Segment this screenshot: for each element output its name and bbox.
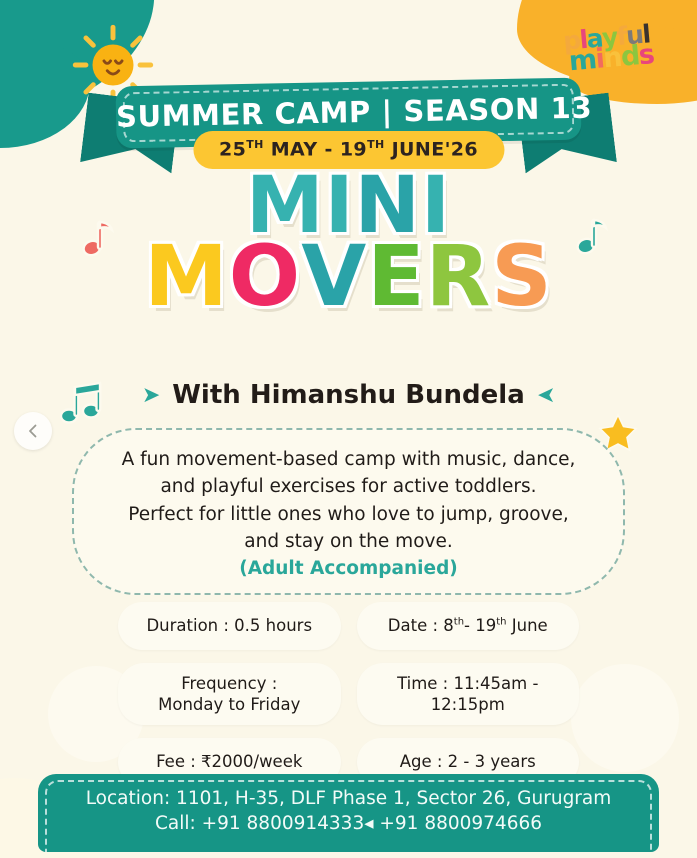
footer-location: Location: 1101, H-35, DLF Phase 1, Secto… (52, 786, 645, 811)
chevron-left-icon (25, 423, 41, 439)
banner-title: SUMMER CAMP | SEASON 13 (116, 91, 582, 134)
date-badge-sup-1: TH (246, 138, 264, 151)
cream-circle-bottom-right (571, 664, 679, 772)
arrow-right-icon: ➤ (537, 383, 555, 408)
date-badge-sup-2: TH (367, 138, 385, 151)
detail-cell-time: Time : 11:45am - 12:15pm (357, 663, 580, 725)
detail-cell-date: Date : 8th- 19th June (357, 602, 580, 650)
details-grid: Duration : 0.5 hoursDate : 8th- 19th Jun… (118, 602, 579, 786)
arrow-left-icon: ➤ (142, 383, 160, 408)
title-letter: R (426, 237, 492, 315)
instructor-row: ➤ With Himanshu Bundela ➤ (0, 380, 697, 410)
detail-text-time: Time : 11:45am - 12:15pm (367, 673, 570, 716)
date-badge-mid: MAY - 19 (264, 138, 367, 160)
footer-call[interactable]: Call: +91 8800914333◂ +91 8800974666 (52, 811, 645, 836)
detail-text-duration: Duration : 0.5 hours (146, 615, 312, 636)
description-line: A fun movement-based camp with music, da… (100, 446, 597, 473)
detail-text-age: Age : 2 - 3 years (400, 751, 536, 772)
detail-text-frequency: Frequency :Monday to Friday (158, 673, 300, 716)
title-line-movers: MOVERS (0, 237, 697, 315)
detail-text-date: Date : 8th- 19th June (388, 615, 548, 636)
poster-canvas: playful minds (0, 0, 697, 858)
title-letter: M (144, 237, 229, 315)
description-line: Perfect for little ones who love to jump… (100, 501, 597, 528)
detail-cell-duration: Duration : 0.5 hours (118, 602, 341, 650)
instructor-name: With Himanshu Bundela (172, 380, 525, 410)
date-badge-start: 25 (219, 138, 246, 160)
detail-cell-frequency: Frequency :Monday to Friday (118, 663, 341, 725)
title-letter: V (301, 237, 367, 315)
adult-accompanied-note: (Adult Accompanied) (100, 558, 597, 579)
date-badge-end: JUNE'26 (385, 138, 478, 160)
title-letter: S (491, 237, 553, 315)
detail-text-fee: Fee : ₹2000/week (156, 751, 302, 772)
logo-line-2: minds (569, 44, 655, 72)
title-letter: E (367, 237, 425, 315)
summer-camp-banner: SUMMER CAMP | SEASON 13 25TH MAY - 19TH … (0, 72, 697, 172)
carousel-prev-button[interactable] (14, 412, 52, 450)
description-line: and stay on the move. (100, 528, 597, 555)
camp-title: MINI MOVERS (0, 170, 697, 315)
contact-footer: Location: 1101, H-35, DLF Phase 1, Secto… (38, 774, 659, 852)
title-letter: O (229, 237, 301, 315)
description-card: A fun movement-based camp with music, da… (72, 428, 625, 595)
description-line: and playful exercises for active toddler… (100, 473, 597, 500)
playful-minds-logo: playful minds (561, 24, 655, 72)
